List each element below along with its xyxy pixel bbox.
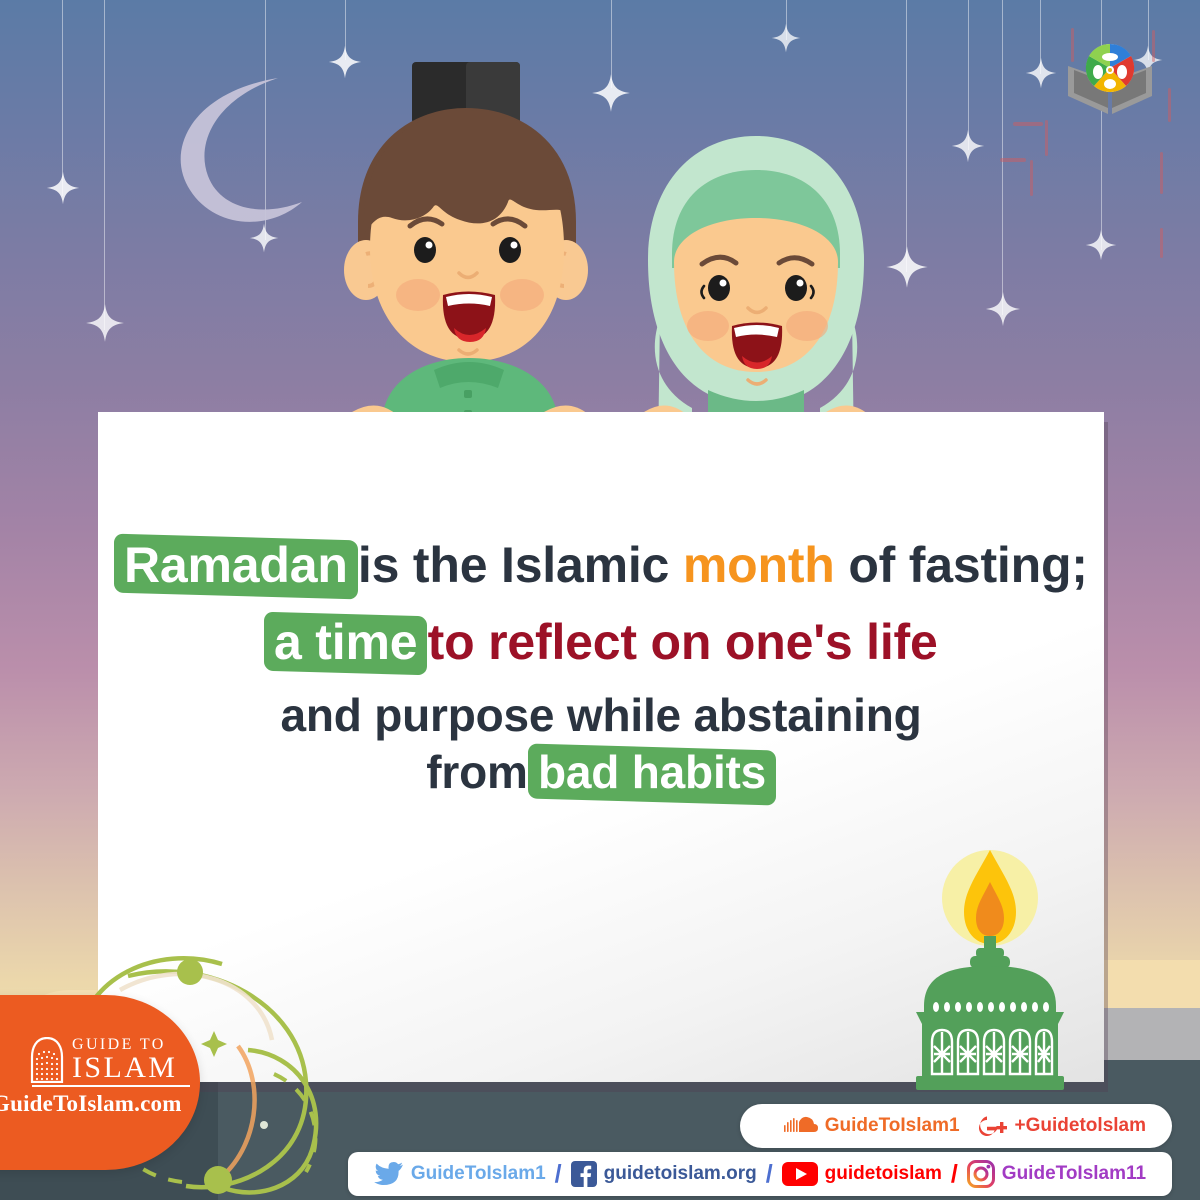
quote-line2-rest: to reflect on one's life — [428, 614, 938, 670]
instagram-icon — [967, 1160, 995, 1188]
quote-highlight-a-time: a time — [264, 612, 427, 676]
quote-highlight-bad-habits: bad habits — [528, 743, 776, 805]
social-item-twitter[interactable]: GuideToIslam1 / — [374, 1160, 564, 1189]
ramadan-quote-poster: Ramadanis the Islamic month of fasting; … — [0, 0, 1200, 1200]
social-label-youtube: guidetoislam — [825, 1163, 942, 1185]
quote-block: Ramadanis the Islamic month of fasting; … — [98, 412, 1104, 801]
youtube-icon — [782, 1161, 818, 1187]
brand-divider — [32, 1085, 190, 1087]
social-label-soundcloud: GuideToIslam1 — [825, 1115, 960, 1137]
social-bar-bottom: GuideToIslam1 / guidetoislam.org / guide… — [348, 1152, 1172, 1196]
quote-line-1: Ramadanis the Islamic month of fasting; — [98, 537, 1104, 596]
star-icon — [770, 22, 802, 54]
brand-badge[interactable]: GUIDE TO ISLAM GuideToIslam.com — [0, 995, 200, 1170]
quote-line-2: a timeto reflect on one's life — [98, 614, 1104, 673]
star-icon — [984, 290, 1022, 328]
soundcloud-icon — [784, 1116, 818, 1136]
social-label-twitter: GuideToIslam1 — [411, 1163, 546, 1185]
boy-character — [330, 52, 620, 452]
social-label-instagram: GuideToIslam11 — [1002, 1163, 1146, 1185]
quote-highlight-ramadan: Ramadan — [114, 534, 358, 600]
social-item-soundcloud[interactable]: GuideToIslam1 — [784, 1115, 960, 1137]
mihrab-arch-icon — [30, 1037, 64, 1083]
globe-on-book-logo-icon[interactable] — [1062, 40, 1158, 118]
social-label-facebook: guidetoislam.org — [604, 1163, 757, 1185]
brand-badge-content: GUIDE TO ISLAM GuideToIslam.com — [30, 1037, 205, 1117]
quote-accent-month: month — [683, 537, 835, 593]
star-icon — [1024, 56, 1058, 90]
brand-name-line2: ISLAM — [72, 1053, 177, 1082]
social-separator: / — [766, 1160, 773, 1189]
quote-line-3: and purpose while abstaining — [98, 691, 1104, 741]
quote-line4-plain: from — [426, 746, 527, 798]
star-icon — [1084, 228, 1118, 262]
crescent-moon-icon — [150, 60, 320, 230]
quote-line1-plain-a: is the Islamic — [358, 537, 669, 593]
facebook-icon — [571, 1161, 597, 1187]
social-item-instagram[interactable]: GuideToIslam11 — [967, 1160, 1146, 1188]
star-icon — [84, 302, 126, 344]
brand-lockup: GUIDE TO ISLAM — [30, 1037, 205, 1083]
quote-line1-plain-b: of fasting; — [848, 537, 1087, 593]
social-item-googleplus[interactable]: +Guidetolslam — [976, 1114, 1146, 1138]
star-icon — [884, 244, 930, 290]
social-item-youtube[interactable]: guidetoislam / — [782, 1160, 960, 1189]
lantern-dome-icon — [900, 836, 1080, 1092]
social-item-facebook[interactable]: guidetoislam.org / — [571, 1160, 775, 1189]
googleplus-icon — [976, 1114, 1008, 1138]
twitter-icon — [374, 1161, 404, 1187]
social-label-googleplus: +Guidetolslam — [1015, 1115, 1146, 1137]
social-separator: / — [555, 1160, 562, 1189]
girl-character — [630, 122, 882, 452]
star-icon — [45, 170, 81, 206]
social-bar-top: GuideToIslam1 +Guidetolslam — [740, 1104, 1172, 1148]
brand-website: GuideToIslam.com — [0, 1091, 205, 1117]
star-icon — [950, 128, 986, 164]
brand-name: GUIDE TO ISLAM — [72, 1037, 177, 1082]
social-separator: / — [951, 1160, 958, 1189]
quote-line-4: frombad habits — [98, 747, 1104, 802]
